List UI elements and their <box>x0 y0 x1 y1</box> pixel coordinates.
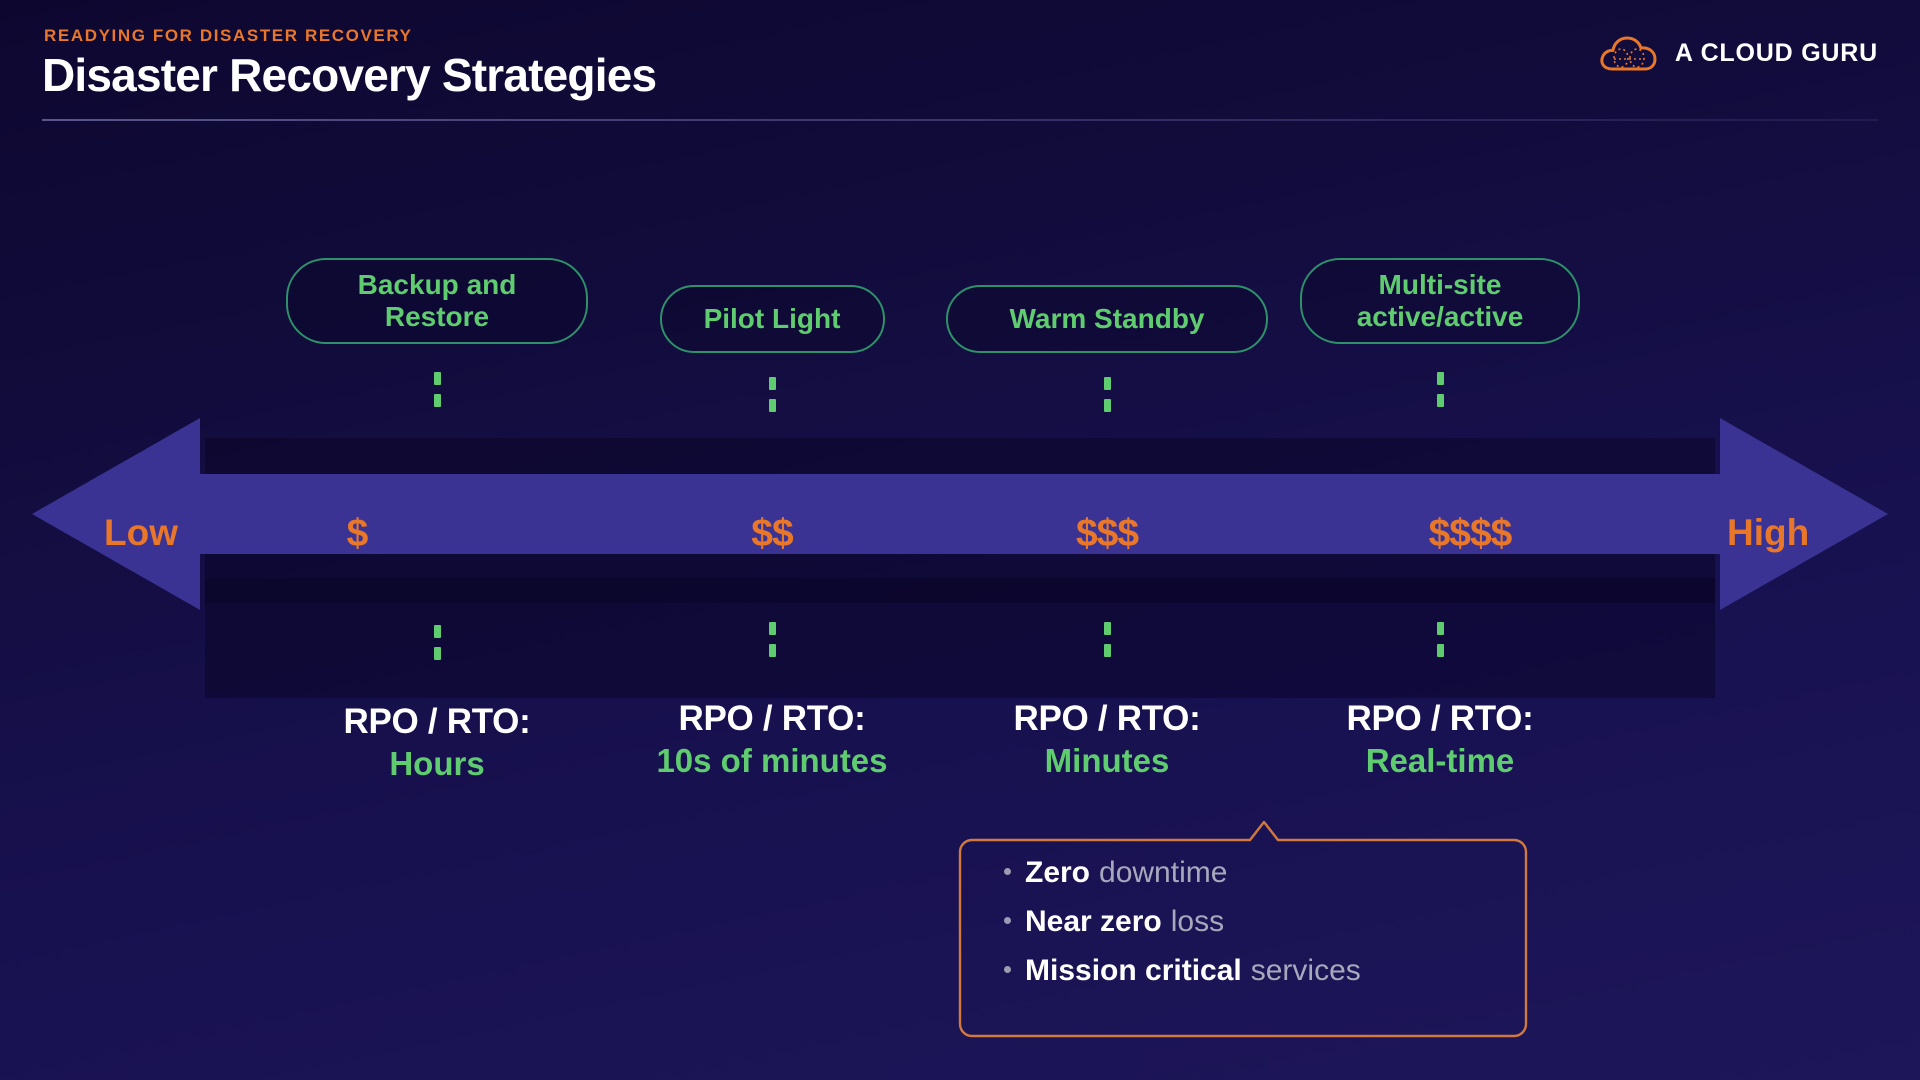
brand-name: A CLOUD GURU <box>1675 39 1878 68</box>
connector-dots <box>1437 622 1444 657</box>
strategy-column-backup-and-restore: Backup andRestore <box>272 258 602 407</box>
list-item: Mission criticalservices <box>1004 954 1361 988</box>
cost-marker: $$$$ <box>1305 512 1635 556</box>
connector-dots <box>1437 372 1444 407</box>
strategy-pill-label: Warm Standby <box>1010 303 1205 335</box>
list-item: Near zeroloss <box>1004 905 1361 939</box>
bullet-icon <box>1004 868 1011 875</box>
bullet-icon <box>1004 917 1011 924</box>
connector-dots <box>434 372 441 407</box>
strategy-pill[interactable]: Multi-siteactive/active <box>1300 258 1580 344</box>
strategy-pill[interactable]: Warm Standby <box>946 285 1268 353</box>
page-title: Disaster Recovery Strategies <box>42 48 656 102</box>
strategy-pill-label: Pilot Light <box>704 303 841 335</box>
rpo-rto-label: RPO / RTO: <box>272 702 602 742</box>
cost-marker: $$$ <box>942 512 1272 556</box>
strategy-column-multi-site-lower: RPO / RTO: Real-time <box>1275 622 1605 780</box>
header-divider <box>42 119 1878 121</box>
strategy-column-warm-standby: Warm Standby <box>942 285 1272 412</box>
strategy-pill[interactable]: Pilot Light <box>660 285 885 353</box>
bullet-strong: Zero <box>1025 856 1090 889</box>
rpo-rto-value: Hours <box>272 745 602 783</box>
bullet-rest: downtime <box>1099 856 1227 889</box>
connector-dots <box>434 625 441 660</box>
rpo-rto-value: Real-time <box>1275 742 1605 780</box>
strategy-pill[interactable]: Backup andRestore <box>286 258 588 344</box>
strategy-pill-label: Multi-siteactive/active <box>1357 269 1524 333</box>
list-item: Zerodowntime <box>1004 856 1361 890</box>
rpo-rto-value: 10s of minutes <box>607 742 937 780</box>
connector-dots <box>769 377 776 412</box>
bullet-rest: loss <box>1171 905 1224 938</box>
connector-dots <box>769 622 776 657</box>
cost-marker: $$ <box>607 512 937 556</box>
spectrum-high-label: High <box>1727 512 1809 554</box>
rpo-rto-label: RPO / RTO: <box>942 699 1272 739</box>
cloud-icon <box>1598 32 1660 74</box>
bullet-icon <box>1004 966 1011 973</box>
cost-marker: $ <box>192 512 522 556</box>
brand-logo: A CLOUD GURU <box>1598 32 1878 74</box>
spectrum-low-label: Low <box>104 512 178 554</box>
bullet-strong: Near zero <box>1025 905 1162 938</box>
rpo-rto-value: Minutes <box>942 742 1272 780</box>
strategy-column-backup-lower: RPO / RTO: Hours <box>272 625 602 783</box>
bullet-strong: Mission critical <box>1025 954 1242 987</box>
bullet-rest: services <box>1251 954 1361 987</box>
strategy-column-pilot-light-lower: RPO / RTO: 10s of minutes <box>607 622 937 780</box>
strategy-column-warm-standby-lower: RPO / RTO: Minutes <box>942 622 1272 780</box>
callout-bullet-list: Zerodowntime Near zeroloss Mission criti… <box>1004 856 1361 1003</box>
slide-header: READYING FOR DISASTER RECOVERY Disaster … <box>0 0 1920 125</box>
multi-site-callout: Zerodowntime Near zeroloss Mission criti… <box>958 818 1528 1040</box>
slide-eyebrow: READYING FOR DISASTER RECOVERY <box>44 26 413 46</box>
rpo-rto-label: RPO / RTO: <box>607 699 937 739</box>
strategy-pill-label: Backup andRestore <box>358 269 517 333</box>
connector-dots <box>1104 377 1111 412</box>
rpo-rto-label: RPO / RTO: <box>1275 699 1605 739</box>
strategy-column-multi-site: Multi-siteactive/active <box>1275 258 1605 407</box>
strategy-column-pilot-light: Pilot Light <box>607 285 937 412</box>
connector-dots <box>1104 622 1111 657</box>
